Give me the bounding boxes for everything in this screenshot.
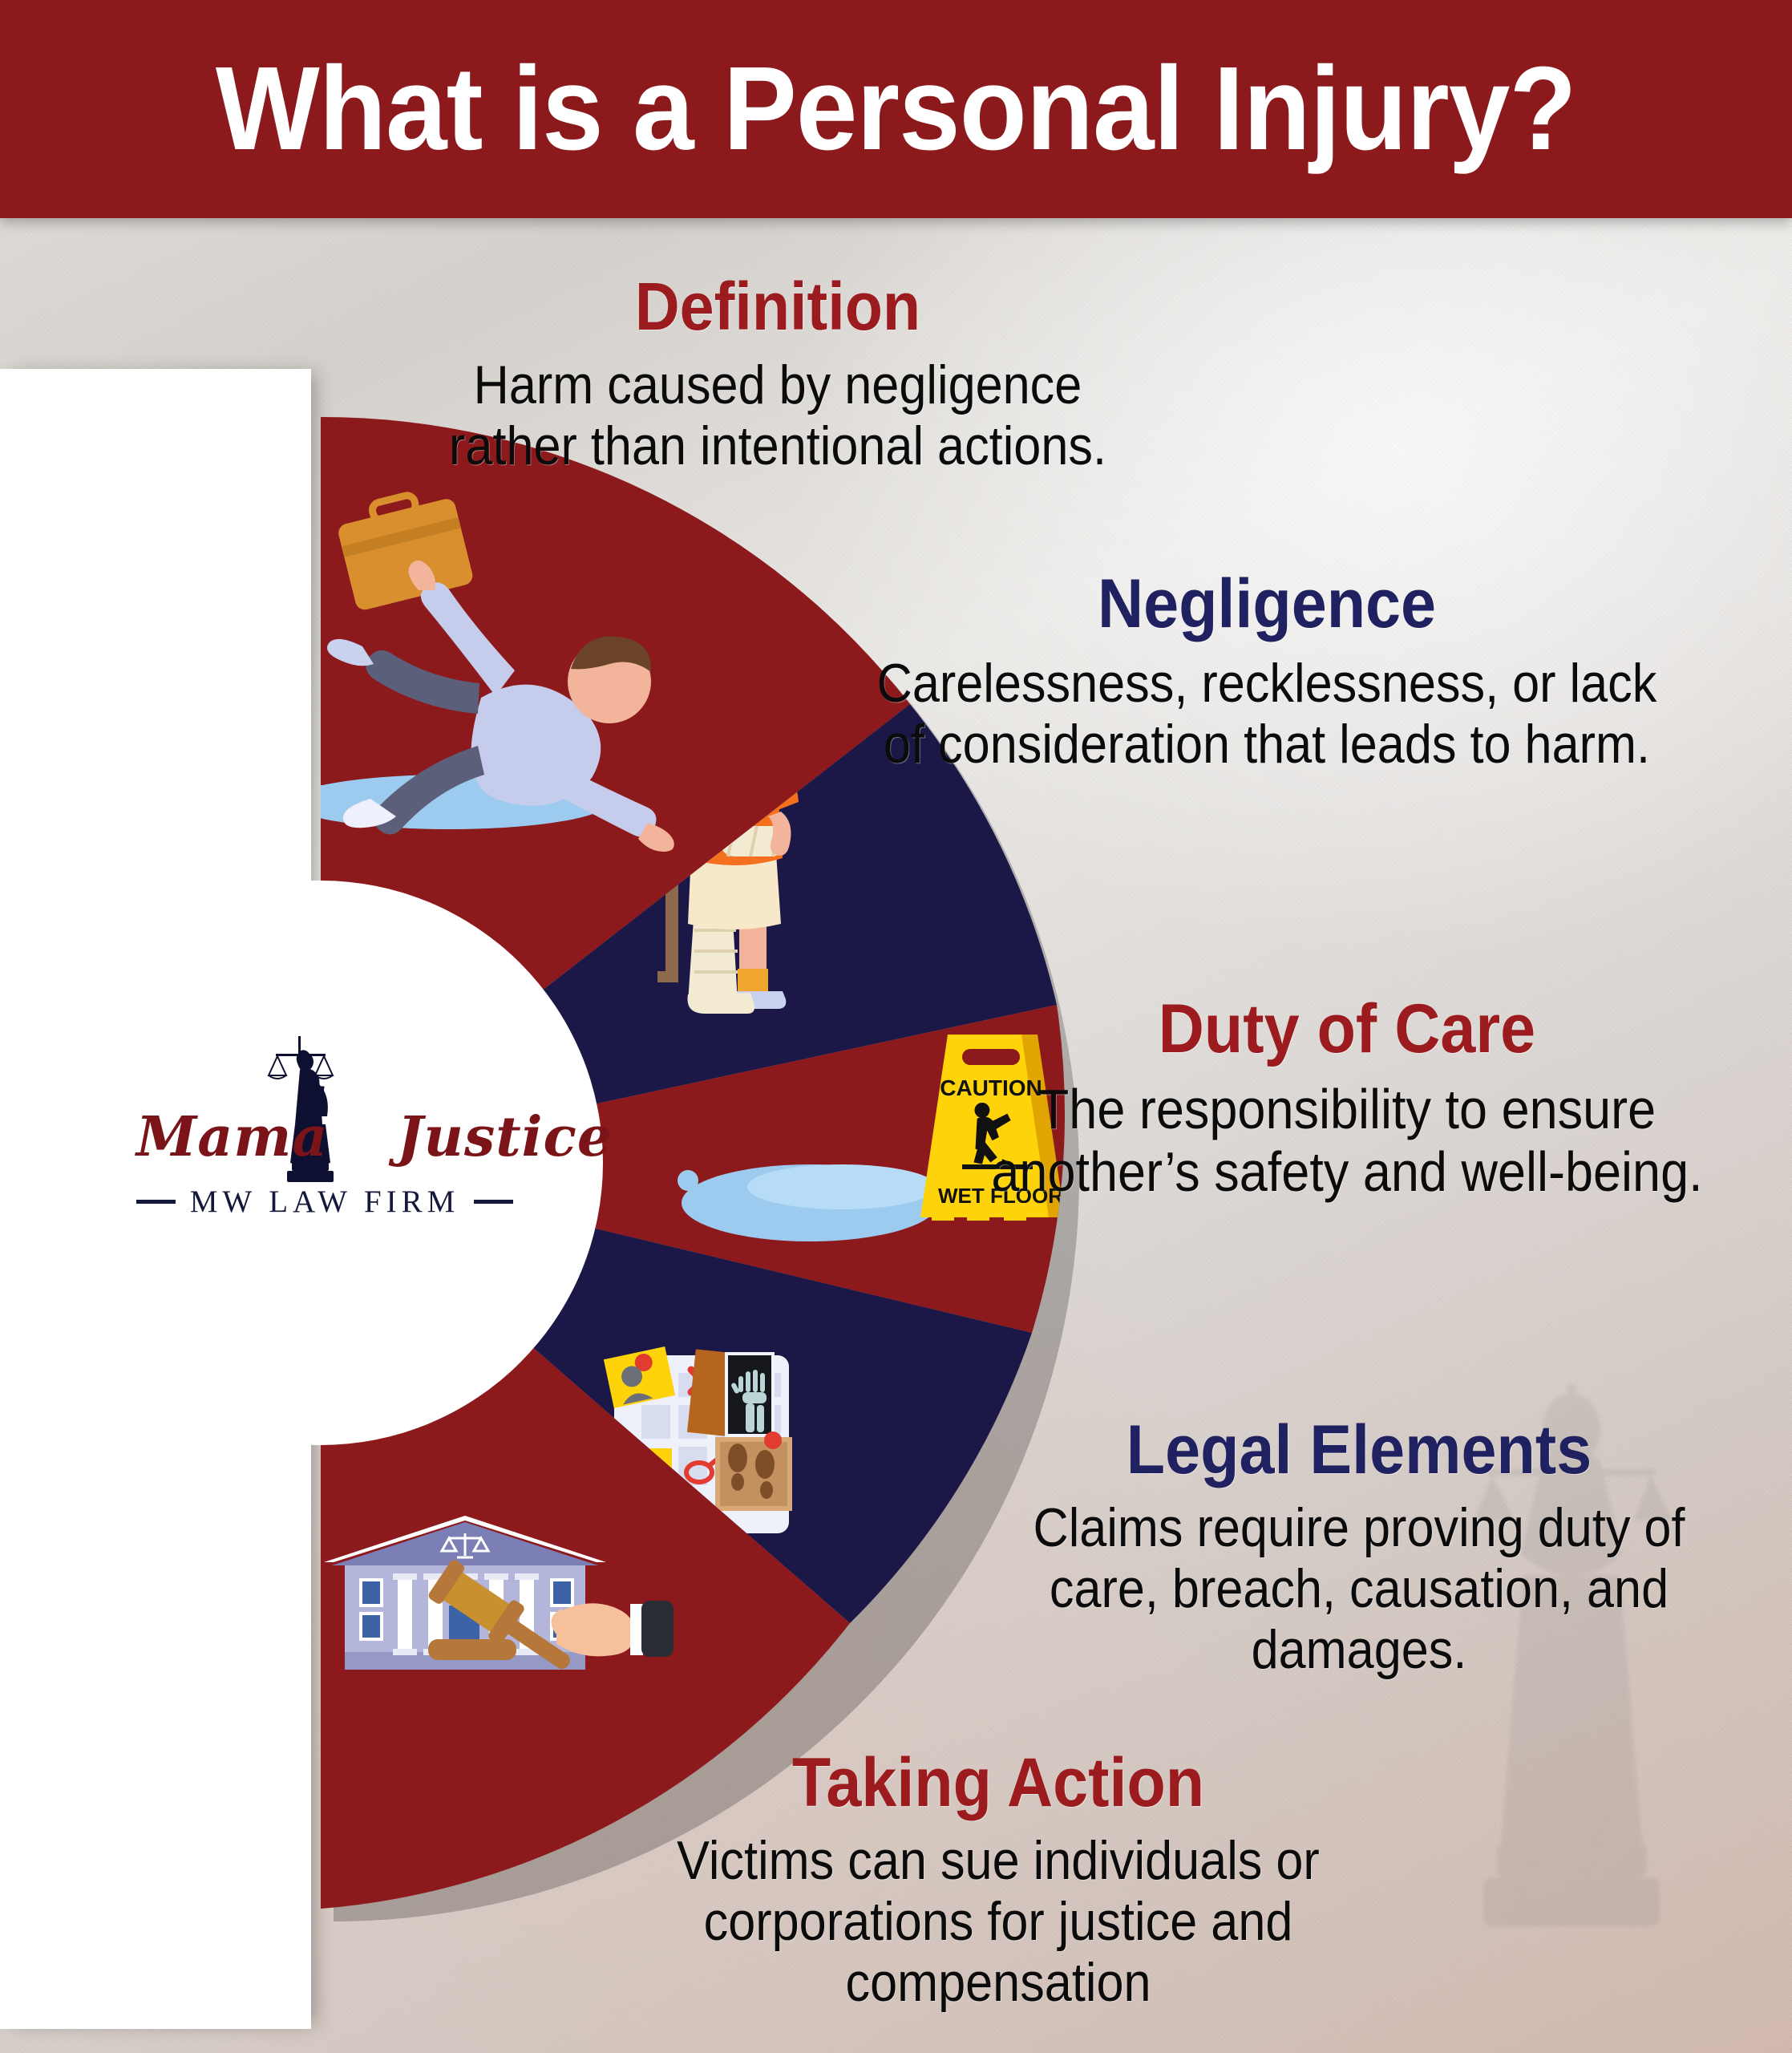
section-duty-of-care: Duty of Care The responsibility to ensur…: [922, 994, 1772, 1204]
section-taking-action: Taking Action Victims can sue individual…: [561, 1748, 1435, 2013]
section-heading-negligence: Negligence: [847, 569, 1688, 638]
section-body-negligence: Carelessness, recklessness, or lack of c…: [856, 653, 1678, 775]
title-banner: What is a Personal Injury?: [0, 0, 1792, 218]
page-title: What is a Personal Injury?: [216, 50, 1576, 168]
section-definition: Definition Harm caused by negligence rat…: [377, 273, 1179, 476]
section-heading-legal-elements: Legal Elements: [979, 1415, 1739, 1484]
section-body-duty-of-care: The responsibility to ensure another’s s…: [965, 1078, 1729, 1204]
wheel-center-hole: [38, 881, 603, 1445]
section-negligence: Negligence Carelessness, recklessness, o…: [810, 569, 1724, 775]
infographic-poster: What is a Personal Injury?: [0, 0, 1792, 2053]
section-body-legal-elements: Claims require proving duty of care, bre…: [988, 1497, 1731, 1680]
section-body-definition: Harm caused by negligence rather than in…: [417, 354, 1139, 476]
section-heading-definition: Definition: [409, 273, 1147, 340]
section-body-taking-action: Victims can sue individuals or corporati…: [605, 1830, 1392, 2013]
section-heading-duty-of-care: Duty of Care: [956, 994, 1737, 1063]
section-legal-elements: Legal Elements Claims require proving du…: [946, 1415, 1772, 1680]
section-heading-taking-action: Taking Action: [597, 1748, 1401, 1817]
